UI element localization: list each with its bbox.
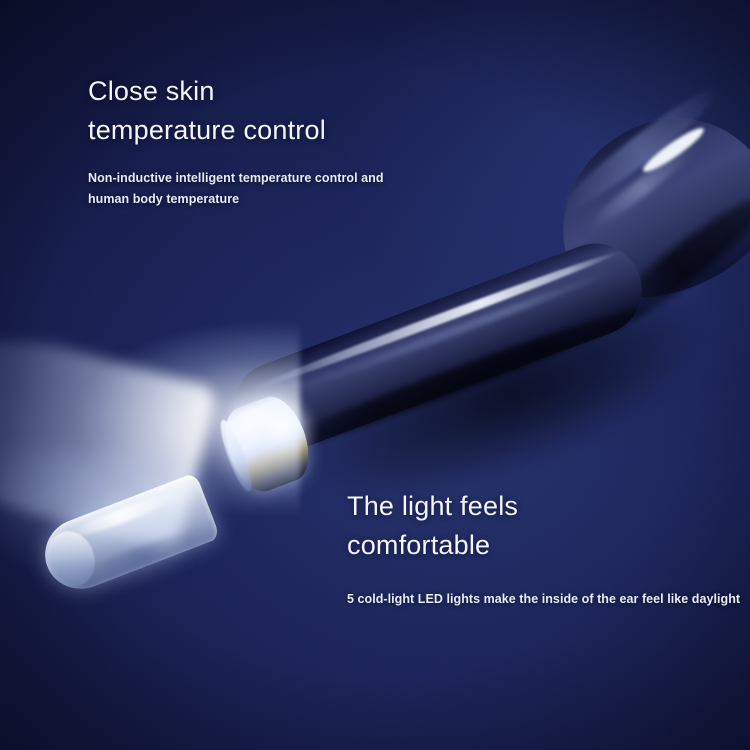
bottom-headline: The light feels comfortable bbox=[347, 487, 740, 565]
grip-edge-light bbox=[553, 79, 726, 223]
bottom-subtext: 5 cold-light LED lights make the inside … bbox=[347, 589, 740, 610]
top-subtext: Non-inductive intelligent temperature co… bbox=[88, 168, 384, 209]
top-text-block: Close skin temperature control Non-induc… bbox=[88, 72, 384, 210]
top-headline: Close skin temperature control bbox=[88, 72, 384, 150]
bottom-text-block: The light feels comfortable 5 cold-light… bbox=[347, 487, 740, 610]
product-banner: Close skin temperature control Non-induc… bbox=[0, 0, 750, 750]
chrome-ring-edge bbox=[215, 417, 257, 494]
